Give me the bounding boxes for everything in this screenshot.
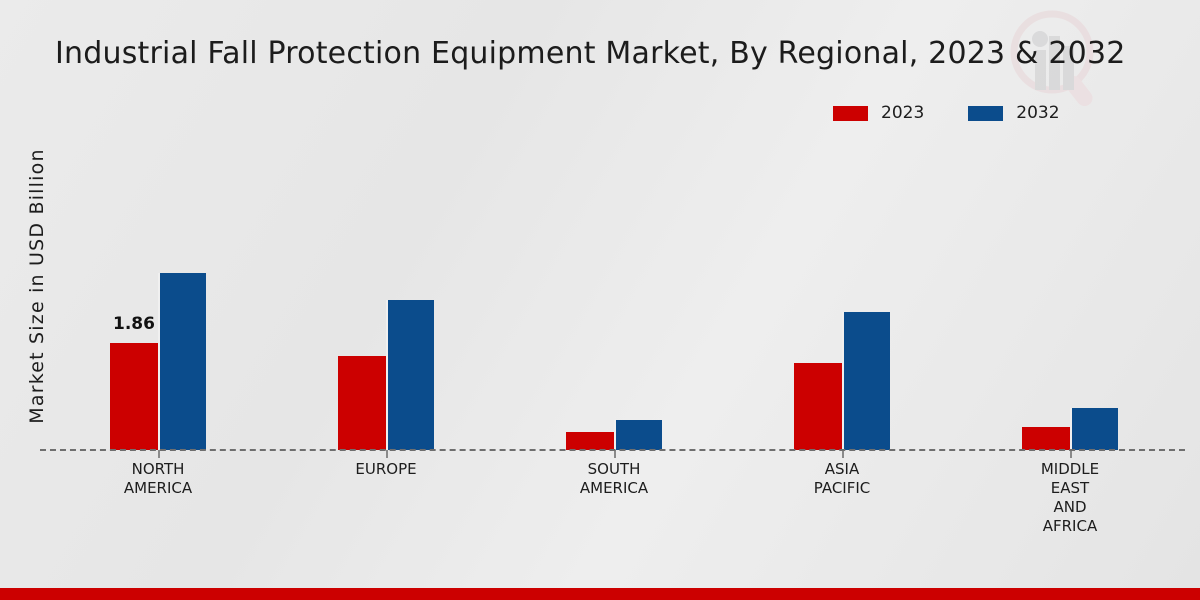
category-label-middle-east-and-africa: MIDDLE EAST AND AFRICA	[990, 460, 1150, 536]
category-label-europe: EUROPE	[306, 460, 466, 479]
bar-north-america-2032[interactable]	[158, 273, 206, 450]
bar-europe-2023[interactable]	[338, 356, 386, 450]
legend-swatch-2023	[833, 106, 868, 121]
bar-asia-pacific-2032[interactable]	[842, 312, 890, 450]
bar-group-north-america: 1.86	[110, 120, 208, 450]
bottom-accent-bar	[0, 588, 1200, 600]
bar-south-america-2032[interactable]	[614, 420, 662, 450]
bar-north-america-2023[interactable]	[110, 343, 158, 450]
axis-tick-europe	[386, 450, 388, 458]
bars-middle-east-and-africa	[1022, 408, 1118, 450]
axis-tick-south-america	[614, 450, 616, 458]
bars-north-america	[110, 273, 206, 450]
axis-tick-north-america	[158, 450, 160, 458]
bar-group-middle-east-and-africa	[1022, 120, 1120, 450]
axis-tick-asia-pacific	[842, 450, 844, 458]
category-label-south-america: SOUTH AMERICA	[534, 460, 694, 498]
bar-group-south-america	[566, 120, 664, 450]
bars-asia-pacific	[794, 312, 890, 450]
chart-title: Industrial Fall Protection Equipment Mar…	[55, 36, 1126, 71]
chart-page: Industrial Fall Protection Equipment Mar…	[0, 0, 1200, 600]
bar-middle-east-and-africa-2032[interactable]	[1070, 408, 1118, 450]
plot-area: 1.86	[40, 120, 1185, 450]
axis-tick-middle-east-and-africa	[1070, 450, 1072, 458]
category-label-asia-pacific: ASIA PACIFIC	[762, 460, 922, 498]
legend-swatch-2032	[968, 106, 1003, 121]
category-label-north-america: NORTH AMERICA	[78, 460, 238, 498]
bar-group-asia-pacific	[794, 120, 892, 450]
bars-europe	[338, 300, 434, 450]
bar-asia-pacific-2023[interactable]	[794, 363, 842, 450]
axis-baseline	[40, 449, 1185, 451]
bar-europe-2032[interactable]	[386, 300, 434, 450]
bars-south-america	[566, 420, 662, 450]
bar-south-america-2023[interactable]	[566, 432, 614, 450]
bar-group-europe	[338, 120, 436, 450]
bar-middle-east-and-africa-2023[interactable]	[1022, 427, 1070, 450]
